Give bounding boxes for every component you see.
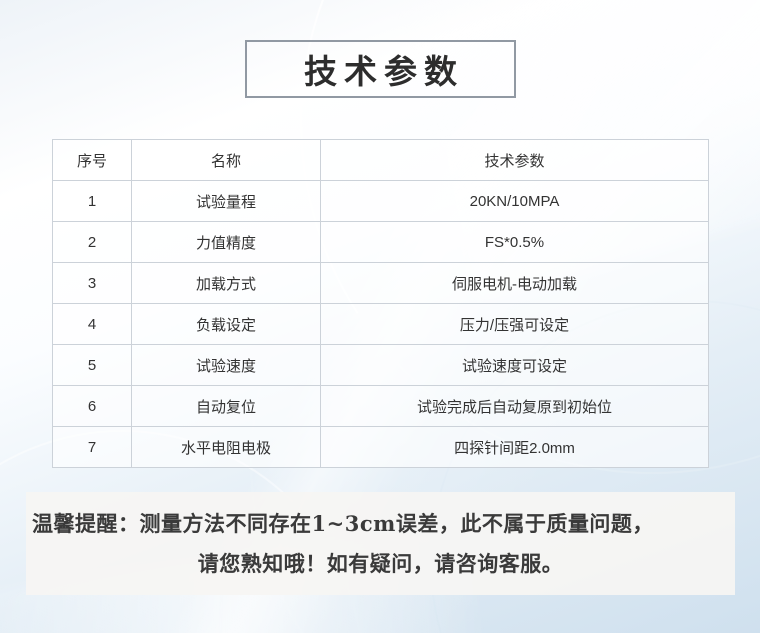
cell-param: FS*0.5% xyxy=(321,222,709,263)
column-header-no: 序号 xyxy=(53,140,132,181)
cell-no: 3 xyxy=(53,263,132,304)
cell-name: 加载方式 xyxy=(132,263,321,304)
cell-param: 20KN/10MPA xyxy=(321,181,709,222)
table-row: 4 负载设定 压力/压强可设定 xyxy=(53,304,709,345)
cell-no: 2 xyxy=(53,222,132,263)
page-title-box: 技术参数 xyxy=(245,40,516,98)
column-header-name: 名称 xyxy=(132,140,321,181)
cell-param: 四探针间距2.0mm xyxy=(321,427,709,468)
cell-param: 试验完成后自动复原到初始位 xyxy=(321,386,709,427)
page-title: 技术参数 xyxy=(297,45,464,93)
cell-name: 自动复位 xyxy=(132,386,321,427)
cell-name: 试验量程 xyxy=(132,181,321,222)
spec-table: 序号 名称 技术参数 1 试验量程 20KN/10MPA 2 力值精度 FS*0… xyxy=(52,139,709,468)
spec-sheet-page: 技术参数 序号 名称 技术参数 1 试验量程 20KN/10MPA 2 力值精度 xyxy=(0,0,760,633)
cell-param: 伺服电机-电动加载 xyxy=(321,263,709,304)
cell-no: 4 xyxy=(53,304,132,345)
cell-param: 压力/压强可设定 xyxy=(321,304,709,345)
notice-panel: 温馨提醒：测量方法不同存在1~3cm误差，此不属于质量问题， 请您熟知哦！如有疑… xyxy=(26,492,735,595)
notice-line-1: 温馨提醒：测量方法不同存在1~3cm误差，此不属于质量问题， xyxy=(32,504,654,544)
notice-line-2: 请您熟知哦！如有疑问，请咨询客服。 xyxy=(198,544,564,584)
table-row: 6 自动复位 试验完成后自动复原到初始位 xyxy=(53,386,709,427)
table-row: 2 力值精度 FS*0.5% xyxy=(53,222,709,263)
table-row: 1 试验量程 20KN/10MPA xyxy=(53,181,709,222)
cell-no: 5 xyxy=(53,345,132,386)
table-row: 5 试验速度 试验速度可设定 xyxy=(53,345,709,386)
cell-no: 6 xyxy=(53,386,132,427)
table-row: 7 水平电阻电极 四探针间距2.0mm xyxy=(53,427,709,468)
cell-name: 试验速度 xyxy=(132,345,321,386)
cell-no: 7 xyxy=(53,427,132,468)
column-header-param: 技术参数 xyxy=(321,140,709,181)
table-row: 3 加载方式 伺服电机-电动加载 xyxy=(53,263,709,304)
cell-name: 水平电阻电极 xyxy=(132,427,321,468)
table-header-row: 序号 名称 技术参数 xyxy=(53,140,709,181)
cell-name: 力值精度 xyxy=(132,222,321,263)
cell-param: 试验速度可设定 xyxy=(321,345,709,386)
cell-no: 1 xyxy=(53,181,132,222)
cell-name: 负载设定 xyxy=(132,304,321,345)
